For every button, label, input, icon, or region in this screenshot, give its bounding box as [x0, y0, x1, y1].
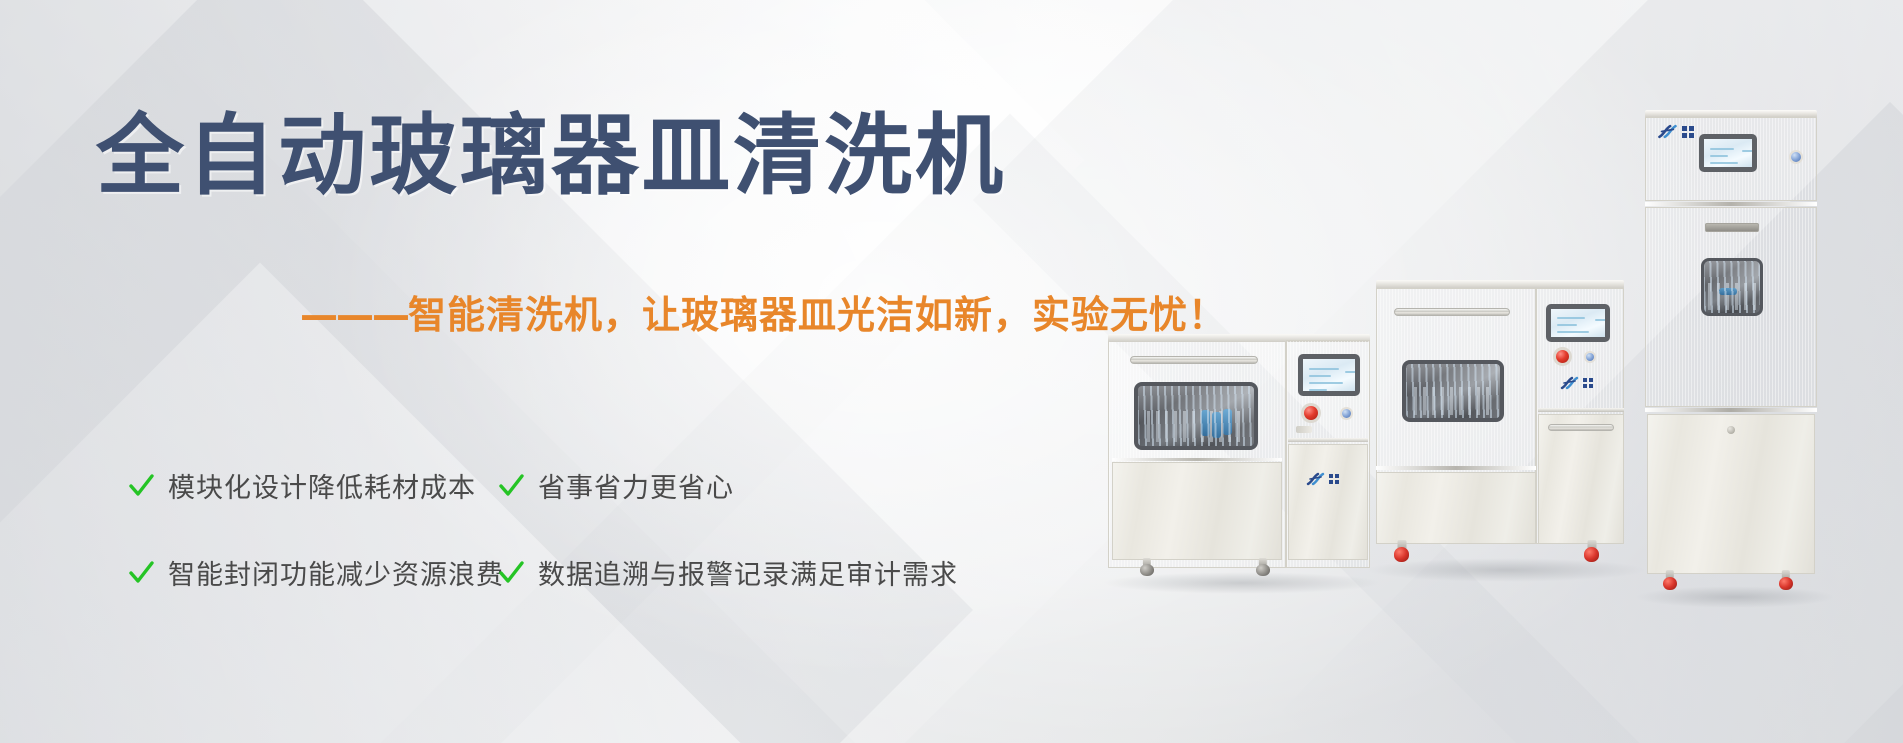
caster-wheel	[1584, 540, 1599, 562]
drawer-handle	[1548, 424, 1614, 431]
caster-wheel	[1663, 570, 1677, 590]
feature-list: 模块化设计降低耗材成本 省事省力更省心 智能封闭功能减少资源浪费	[128, 466, 1048, 592]
caster-wheel	[1140, 558, 1154, 576]
feature-label: 省事省力更省心	[538, 466, 734, 505]
lower-cabinet	[1647, 414, 1815, 574]
lower-drawer	[1538, 414, 1624, 544]
door-handle	[1130, 356, 1258, 364]
brand-logo	[1306, 472, 1339, 486]
head-seam	[1645, 202, 1817, 206]
logo-mark-icon	[1306, 472, 1326, 486]
panel-seam	[1538, 408, 1624, 412]
logo-mark-icon	[1560, 376, 1580, 390]
logo-mark-icon	[1657, 124, 1679, 139]
hmi-touchscreen[interactable]	[1298, 354, 1360, 396]
label-plate	[1296, 426, 1312, 433]
list-item: 数据追溯与报警记录满足审计需求	[498, 553, 1038, 592]
door-handle	[1394, 308, 1510, 316]
product-benchtop-glassware-washer	[1108, 330, 1378, 600]
vent-slot	[1705, 223, 1759, 232]
logo-squares-icon	[1682, 126, 1694, 138]
check-icon	[128, 560, 154, 586]
feature-row: 智能封闭功能减少资源浪费 数据追溯与报警记录满足审计需求	[128, 553, 1048, 592]
feature-label: 智能封闭功能减少资源浪费	[168, 553, 504, 592]
logo-squares-icon	[1583, 378, 1593, 388]
product-shadow	[1635, 586, 1835, 608]
list-item: 省事省力更省心	[498, 466, 1038, 505]
lower-cabinet	[1376, 472, 1536, 544]
service-door	[1288, 444, 1368, 560]
brand-logo	[1657, 124, 1694, 139]
hmi-touchscreen[interactable]	[1699, 134, 1757, 172]
cabinet-lock-icon	[1727, 426, 1735, 434]
viewing-window	[1134, 382, 1258, 450]
feature-row: 模块化设计降低耗材成本 省事省力更省心	[128, 466, 1048, 505]
panel-seam	[1288, 438, 1368, 442]
product-shadow	[1366, 558, 1646, 582]
emergency-stop-button[interactable]	[1304, 406, 1318, 420]
power-button[interactable]	[1791, 152, 1801, 162]
check-icon	[498, 560, 524, 586]
check-icon	[498, 473, 524, 499]
product-images	[1080, 0, 1903, 743]
brand-logo	[1560, 376, 1593, 390]
list-item: 模块化设计降低耗材成本	[128, 466, 498, 505]
product-tall-column-glassware-washer	[1645, 110, 1855, 610]
page-title: 全自动玻璃器皿清洗机	[96, 112, 1006, 200]
door-seam	[1376, 466, 1536, 470]
feature-label: 模块化设计降低耗材成本	[168, 466, 476, 505]
caster-wheel	[1394, 540, 1409, 562]
door-seam	[1112, 458, 1282, 461]
power-button[interactable]	[1586, 353, 1594, 361]
hmi-touchscreen[interactable]	[1546, 304, 1610, 342]
list-item: 智能封闭功能减少资源浪费	[128, 553, 498, 592]
feature-label: 数据追溯与报警记录满足审计需求	[538, 553, 958, 592]
logo-squares-icon	[1329, 474, 1339, 484]
glassware-rack	[1147, 411, 1244, 442]
glassware-rack	[1708, 283, 1755, 310]
lower-cabinet	[1112, 462, 1282, 560]
glassware-rack	[1414, 387, 1493, 415]
product-shadow	[1102, 572, 1382, 594]
power-button[interactable]	[1342, 409, 1351, 418]
subtitle-dash: ———	[300, 293, 408, 337]
product-banner: 全自动玻璃器皿清洗机 ———智能清洗机，让玻璃器皿光洁如新，实验无忧！ 模块化设…	[0, 0, 1903, 743]
viewing-window	[1402, 360, 1504, 422]
product-undercounter-glassware-washer	[1372, 278, 1652, 603]
emergency-stop-button[interactable]	[1556, 350, 1569, 363]
banner-copy: 全自动玻璃器皿清洗机 ———智能清洗机，让玻璃器皿光洁如新，实验无忧！ 模块化设…	[0, 0, 1150, 743]
viewing-window	[1701, 258, 1763, 316]
check-icon	[128, 473, 154, 499]
door-seam	[1645, 408, 1817, 412]
